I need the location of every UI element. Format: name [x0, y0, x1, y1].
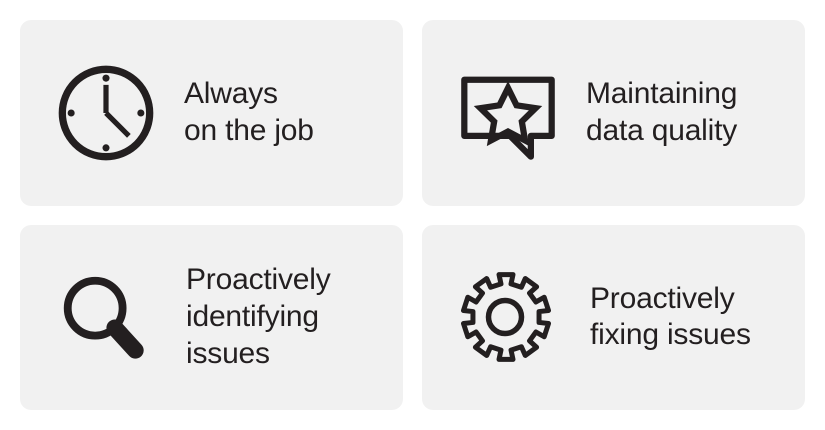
feature-card-maintaining-data-quality[interactable]: Maintaining data quality	[422, 20, 805, 206]
feature-card-label: Maintaining data quality	[586, 76, 791, 149]
speech-bubble-star-icon	[456, 61, 560, 165]
feature-card-label: Proactively identifying issues	[186, 262, 389, 372]
clock-icon	[54, 61, 158, 165]
feature-card-grid: Always on the job Maintaining data quali…	[0, 0, 825, 430]
feature-card-label: Always on the job	[184, 76, 389, 149]
magnifying-glass-icon	[54, 268, 152, 366]
feature-card-proactively-identifying-issues[interactable]: Proactively identifying issues	[20, 225, 403, 411]
feature-card-label: Proactively fixing issues	[590, 281, 791, 354]
feature-card-always-on-the-job[interactable]: Always on the job	[20, 20, 403, 206]
feature-card-proactively-fixing-issues[interactable]: Proactively fixing issues	[422, 225, 805, 411]
gear-icon	[456, 267, 556, 367]
